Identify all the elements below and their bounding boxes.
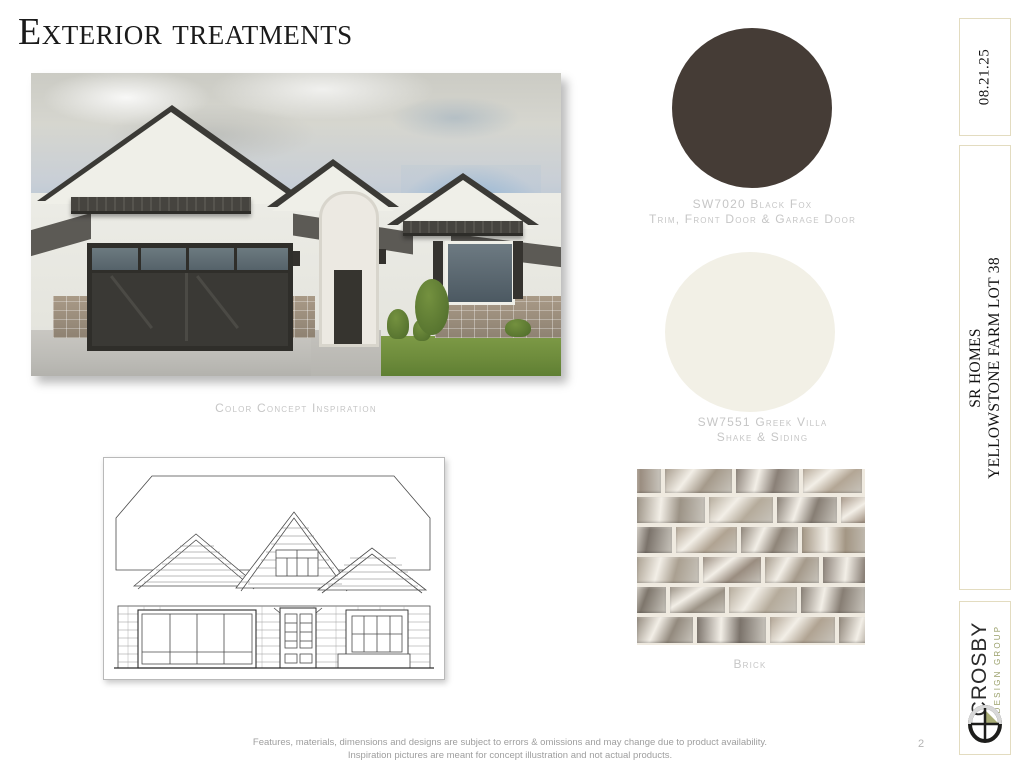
swatch-greek-villa-caption: SW7551 Greek Villa Shake & Siding: [655, 415, 870, 445]
photo-garage-mullion: [185, 273, 188, 341]
brick-unit: [637, 587, 666, 613]
brick-swatch: [637, 469, 865, 645]
brick-unit: [637, 617, 693, 643]
photo-front-door: [334, 270, 362, 344]
brick-unit: [803, 469, 862, 493]
photo-stone-left: [53, 296, 89, 338]
date-box: 08.21.25: [959, 18, 1011, 136]
page-title: Exterior treatments: [18, 10, 353, 54]
project-location: YELLOWSTONE FARM LOT 38: [985, 257, 1004, 479]
brick-unit: [637, 469, 661, 493]
swatch-greek-villa: [665, 252, 835, 412]
elevation-svg: [104, 458, 444, 679]
page-number: 2: [918, 738, 924, 750]
photo-window-right: [445, 241, 515, 305]
swatch-black-fox-label-2: Trim, Front Door & Garage Door: [640, 212, 865, 227]
swatch-greek-villa-label-1: SW7551 Greek Villa: [655, 415, 870, 430]
brick-row: [637, 557, 865, 583]
brick-unit: [841, 497, 865, 523]
brick-unit: [770, 617, 835, 643]
crosby-emblem-icon: [963, 702, 1007, 746]
brick-unit: [665, 469, 732, 493]
swatch-greek-villa-label-2: Shake & Siding: [655, 430, 870, 445]
photo-shutter-right: [513, 241, 523, 299]
photo-tree: [415, 279, 449, 335]
brick-unit: [729, 587, 797, 613]
photo-sconce-entry: [379, 249, 386, 264]
elevation-drawing: [103, 457, 445, 680]
brick-unit: [703, 557, 761, 583]
brick-unit: [802, 527, 865, 553]
photo-garage-lites: [92, 248, 288, 273]
brick-row: [637, 587, 865, 613]
project-title: SR HOMES YELLOWSTONE FARM LOT 38: [966, 257, 1004, 479]
disclaimer: Features, materials, dimensions and desi…: [150, 736, 870, 762]
photo-garage-door: [87, 243, 293, 351]
photo-sconce-garage: [293, 251, 300, 266]
photo-caption: Color Concept Inspiration: [31, 401, 561, 416]
brick-row: [637, 617, 865, 643]
brick-unit: [637, 527, 672, 553]
brick-unit: [709, 497, 773, 523]
photo-entry-arch: [319, 191, 379, 347]
photo-awning-left: [71, 197, 251, 214]
swatch-black-fox: [672, 28, 832, 188]
brick-unit: [801, 587, 865, 613]
brick-unit: [839, 617, 865, 643]
photo-garage-brace-b: [196, 275, 239, 329]
brick-caption: Brick: [690, 657, 810, 672]
brick-row: [637, 527, 865, 553]
brick-unit: [637, 497, 705, 523]
crosby-logo: CROSBY DESIGN GROUP: [960, 602, 1010, 754]
swatch-black-fox-label-1: SW7020 Black Fox: [640, 197, 865, 212]
brick-unit: [741, 527, 798, 553]
brick-unit: [676, 527, 737, 553]
disclaimer-line-1: Features, materials, dimensions and desi…: [150, 736, 870, 749]
project-title-box: SR HOMES YELLOWSTONE FARM LOT 38: [959, 145, 1011, 590]
brick-unit: [777, 497, 837, 523]
brick-unit: [697, 617, 766, 643]
client-name: SR HOMES: [966, 257, 985, 479]
brick-unit: [670, 587, 725, 613]
swatch-black-fox-caption: SW7020 Black Fox Trim, Front Door & Gara…: [640, 197, 865, 227]
brick-row: [637, 497, 865, 523]
brick-unit: [765, 557, 819, 583]
photo-shrub-a: [387, 309, 409, 339]
photo-garage-brace-a: [110, 275, 153, 329]
brick-row: [637, 469, 865, 493]
project-date: 08.21.25: [977, 49, 994, 106]
brick-unit: [823, 557, 865, 583]
photo-gable-left: [41, 109, 301, 204]
inspiration-photo: [31, 73, 561, 376]
photo-awning-right: [403, 221, 523, 236]
brick-unit: [637, 557, 699, 583]
disclaimer-line-2: Inspiration pictures are meant for conce…: [150, 749, 870, 762]
brick-unit: [736, 469, 799, 493]
logo-box: CROSBY DESIGN GROUP: [959, 601, 1011, 755]
photo-shrub-c: [505, 319, 531, 337]
